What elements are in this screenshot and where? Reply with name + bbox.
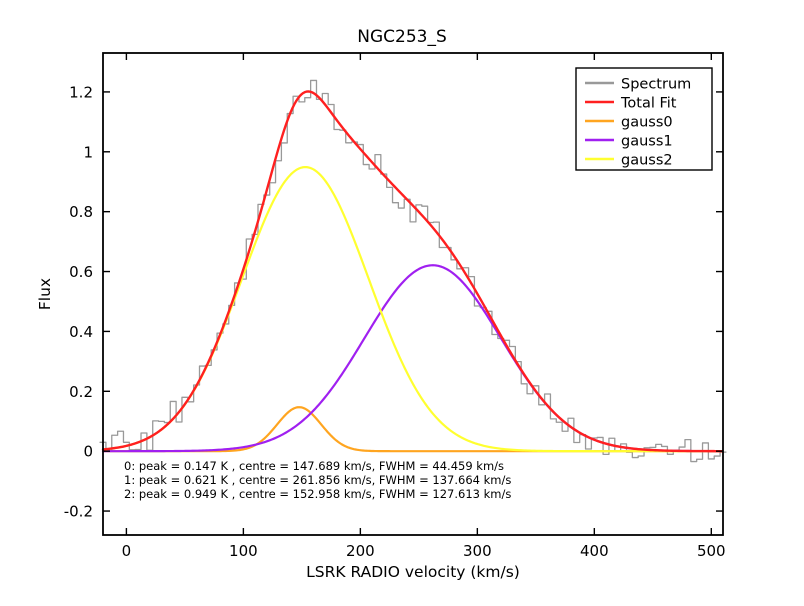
x-axis-label: LSRK RADIO velocity (km/s) [306, 563, 520, 581]
y-tick-label: 0.8 [69, 203, 93, 221]
page-title: NGC253_S [357, 27, 447, 47]
x-tick-label: 200 [346, 542, 375, 560]
annotation-line: 0: peak = 0.147 K , centre = 147.689 km/… [124, 459, 504, 473]
annotation-line: 1: peak = 0.621 K , centre = 261.856 km/… [124, 473, 511, 487]
annotation-line: 2: peak = 0.949 K , centre = 152.958 km/… [124, 487, 511, 501]
fit-parameters-annotation: 0: peak = 0.147 K , centre = 147.689 km/… [124, 459, 511, 501]
y-tick-label: 1 [83, 143, 93, 161]
legend-label-gauss2: gauss2 [621, 153, 673, 169]
y-tick-label: 0.4 [69, 323, 93, 341]
y-tick-label: 0.6 [69, 263, 93, 281]
y-tick-label: -0.2 [64, 503, 93, 521]
figure-canvas: NGC253_S 0100200300400500-0.200.20.40.60… [0, 0, 804, 606]
y-tick-label: 0.2 [69, 383, 93, 401]
x-tick-label: 500 [697, 542, 726, 560]
legend: SpectrumTotal Fitgauss0gauss1gauss2 [576, 68, 712, 170]
legend-label-total-fit: Total Fit [620, 96, 677, 112]
spectrum-plot: NGC253_S 0100200300400500-0.200.20.40.60… [0, 0, 804, 606]
x-tick-label: 0 [122, 542, 132, 560]
legend-label-gauss0: gauss0 [621, 115, 673, 131]
x-tick-label: 300 [463, 542, 492, 560]
x-tick-label: 400 [580, 542, 609, 560]
y-axis-label: Flux [36, 278, 54, 310]
x-tick-label: 100 [229, 542, 258, 560]
y-tick-label: 0 [83, 443, 93, 461]
legend-label-spectrum: Spectrum [621, 77, 691, 93]
legend-label-gauss1: gauss1 [621, 134, 673, 150]
y-tick-label: 1.2 [69, 83, 93, 101]
